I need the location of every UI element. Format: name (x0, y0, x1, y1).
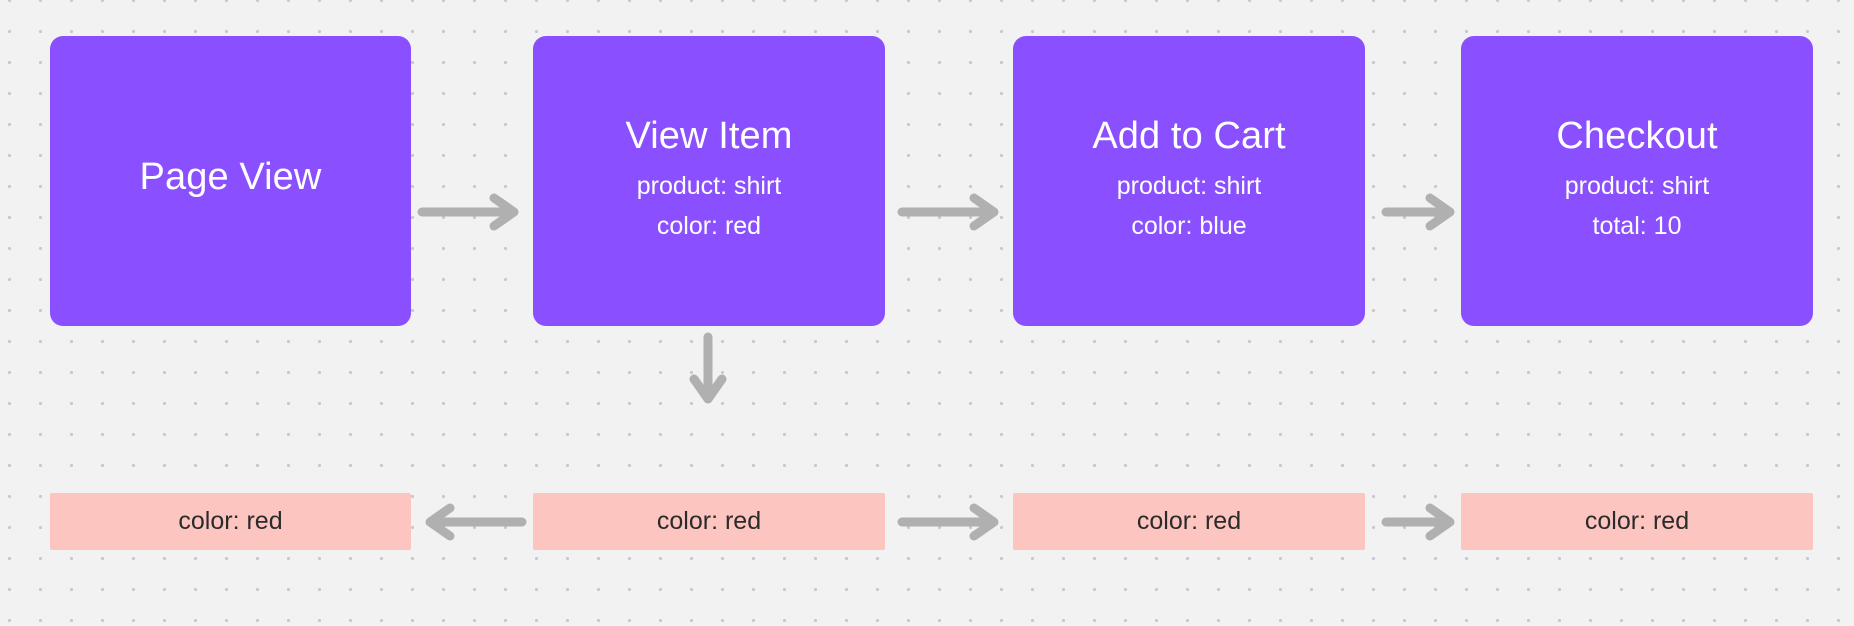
arrow-add-to-cart-to-checkout (1382, 194, 1462, 230)
event-node-properties: product: shirt color: red (637, 166, 782, 247)
arrow-view-item-to-add-to-cart (898, 194, 1006, 230)
arrow-view-item-to-property (690, 333, 726, 411)
event-node-properties: product: shirt color: blue (1117, 166, 1262, 247)
event-node-property: product: shirt (1565, 166, 1710, 207)
event-node-add-to-cart[interactable]: Add to Cart product: shirt color: blue (1013, 36, 1365, 326)
arrow-property-2-to-property-1 (418, 504, 526, 540)
property-node-label: color: red (178, 507, 282, 536)
property-node-2[interactable]: color: red (533, 493, 885, 550)
property-node-label: color: red (1585, 507, 1689, 536)
property-node-label: color: red (657, 507, 761, 536)
event-node-title: Add to Cart (1092, 115, 1285, 158)
event-node-property: color: red (657, 206, 761, 247)
arrow-property-2-to-property-3 (898, 504, 1006, 540)
property-node-1[interactable]: color: red (50, 493, 411, 550)
property-node-3[interactable]: color: red (1013, 493, 1365, 550)
event-node-title: Checkout (1556, 115, 1717, 158)
event-node-view-item[interactable]: View Item product: shirt color: red (533, 36, 885, 326)
arrow-property-3-to-property-4 (1382, 504, 1462, 540)
event-node-property: product: shirt (637, 166, 782, 207)
property-node-label: color: red (1137, 507, 1241, 536)
arrow-page-view-to-view-item (418, 194, 526, 230)
event-node-property: color: blue (1131, 206, 1246, 247)
event-node-property: total: 10 (1593, 206, 1682, 247)
event-node-property: product: shirt (1117, 166, 1262, 207)
event-node-checkout[interactable]: Checkout product: shirt total: 10 (1461, 36, 1813, 326)
event-node-title: Page View (140, 156, 322, 199)
property-node-4[interactable]: color: red (1461, 493, 1813, 550)
flow-canvas[interactable]: Page View View Item product: shirt color… (0, 0, 1854, 626)
event-node-properties: product: shirt total: 10 (1565, 166, 1710, 247)
event-node-title: View Item (625, 115, 792, 158)
event-node-page-view[interactable]: Page View (50, 36, 411, 326)
